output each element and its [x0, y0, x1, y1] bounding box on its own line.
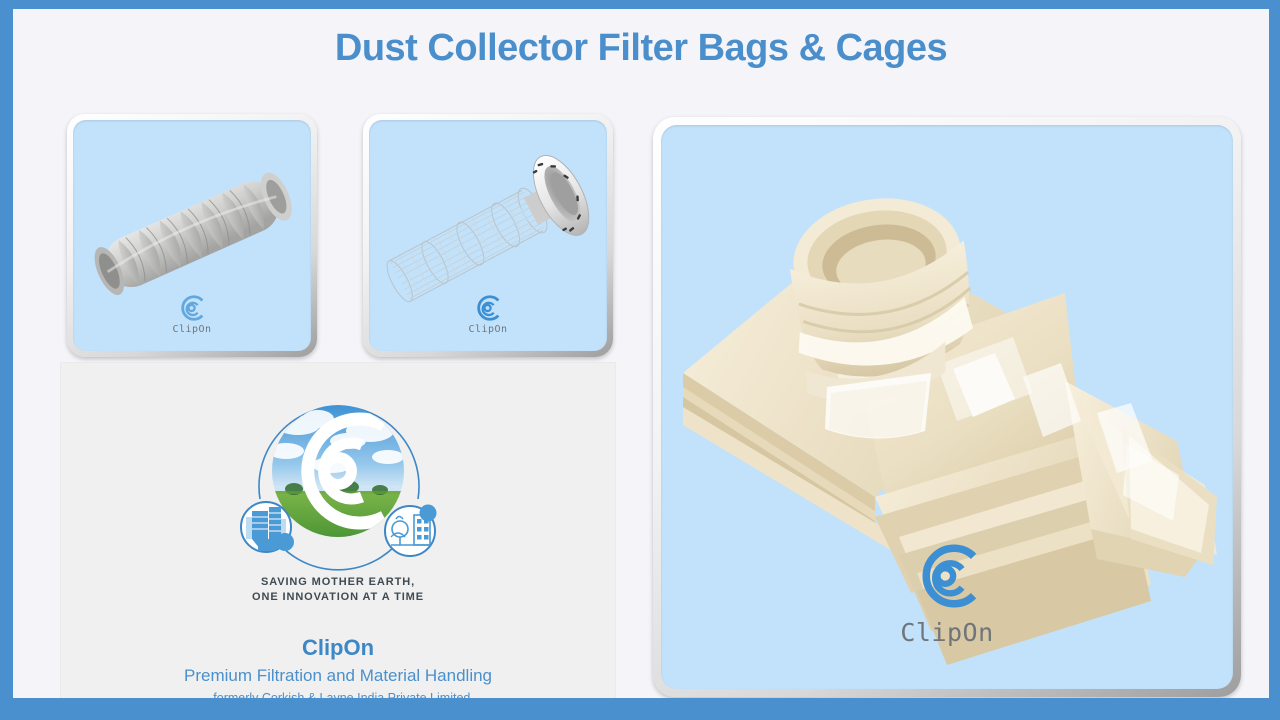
brand-former-name: - formerly Corkish & Layne India Private… [61, 691, 615, 698]
hero-photo-folded-filter-bags: ClipOn [661, 125, 1233, 689]
watermark-clipon: ClipOn [369, 293, 607, 335]
brand-name: ClipOn [61, 635, 615, 661]
watermark-clipon: ClipOn [73, 293, 311, 335]
tagline-line-2: ONE INNOVATION AT A TIME [252, 591, 424, 603]
thumbnail-card-filter-bag[interactable]: ClipOn [67, 114, 317, 357]
tagline-line-1: SAVING MOTHER EARTH, [261, 576, 415, 588]
page-title: Dust Collector Filter Bags & Cages [13, 27, 1269, 70]
slide-canvas: Dust Collector Filter Bags & Cages [13, 9, 1269, 698]
page-frame: Dust Collector Filter Bags & Cages [0, 0, 1280, 720]
watermark-label: ClipOn [73, 325, 311, 335]
clipon-c-logo-icon [473, 293, 503, 323]
watermark-label: ClipOn [369, 325, 607, 335]
thumbnail-card-filter-cage[interactable]: ClipOn [363, 114, 613, 357]
clipon-earth-c-logo-icon [228, 379, 448, 579]
hero-card-folded-filter-bags[interactable]: ClipOn [653, 117, 1241, 697]
clipon-c-logo-icon [177, 293, 207, 323]
brand-tagline: SAVING MOTHER EARTH, ONE INNOVATION AT A… [61, 575, 615, 604]
watermark-clipon: ClipOn [661, 539, 1233, 645]
watermark-label: ClipOn [661, 620, 1233, 645]
brand-panel: SAVING MOTHER EARTH, ONE INNOVATION AT A… [60, 362, 616, 698]
thumbnail-photo-filter-bag: ClipOn [73, 120, 311, 351]
thumbnail-photo-filter-cage: ClipOn [369, 120, 607, 351]
brand-descriptor: Premium Filtration and Material Handling [61, 666, 615, 686]
clipon-c-logo-icon [910, 539, 984, 613]
